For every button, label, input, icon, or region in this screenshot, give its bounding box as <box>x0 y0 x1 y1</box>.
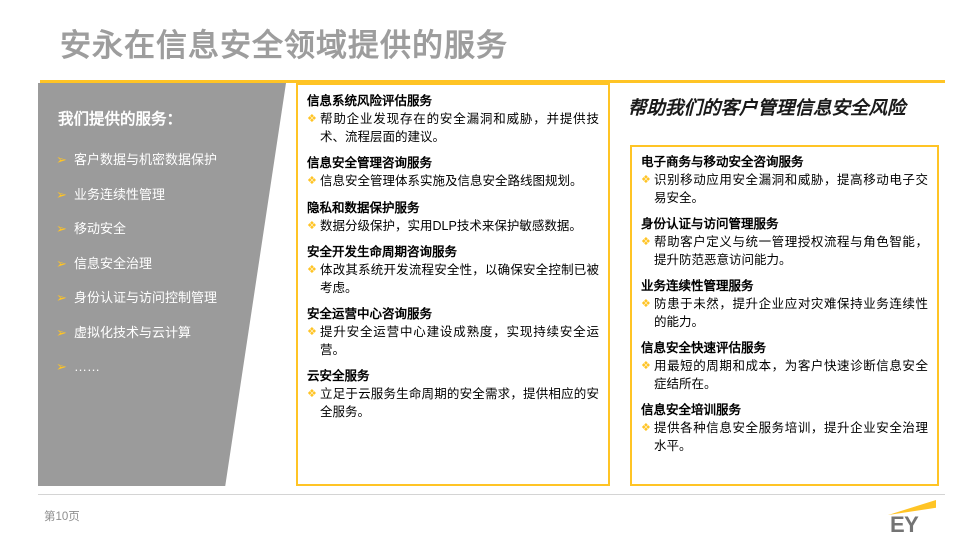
arrow-bullet-icon: ➢ <box>56 289 69 307</box>
diamond-bullet-icon: ❖ <box>641 172 654 190</box>
diamond-bullet-icon: ❖ <box>641 234 654 252</box>
page-title: 安永在信息安全领域提供的服务 <box>60 20 508 65</box>
service-title: 隐私和数据保护服务 <box>307 200 599 217</box>
service-description: 立足于云服务生命周期的安全需求，提供相应的安全服务。 <box>320 386 599 421</box>
service-description-row: ❖数据分级保护，实用DLP技术来保护敏感数据。 <box>307 218 599 236</box>
right-service-0: 电子商务与移动安全咨询服务❖识别移动应用安全漏洞和威胁，提高移动电子交易安全。 <box>641 154 928 207</box>
service-description: 提供各种信息安全服务培训，提升企业安全治理水平。 <box>654 420 928 455</box>
diamond-bullet-icon: ❖ <box>307 324 320 342</box>
service-description: 信息安全管理体系实施及信息安全路线图规划。 <box>320 173 599 191</box>
service-description: 提升安全运营中心建设成熟度，实现持续安全运营。 <box>320 324 599 359</box>
sidebar-item-5[interactable]: ➢虚拟化技术与云计算 <box>56 324 271 342</box>
arrow-bullet-icon: ➢ <box>56 186 69 204</box>
diamond-bullet-icon: ❖ <box>641 420 654 438</box>
service-description: 识别移动应用安全漏洞和威胁，提高移动电子交易安全。 <box>654 172 928 207</box>
sidebar-item-0[interactable]: ➢客户数据与机密数据保护 <box>56 151 271 169</box>
diamond-bullet-icon: ❖ <box>641 296 654 314</box>
page-number: 第10页 <box>44 508 80 524</box>
sidebar-item-3[interactable]: ➢信息安全治理 <box>56 255 271 273</box>
right-services-box: 电子商务与移动安全咨询服务❖识别移动应用安全漏洞和威胁，提高移动电子交易安全。身… <box>630 145 939 486</box>
sidebar-item-2[interactable]: ➢移动安全 <box>56 220 271 238</box>
middle-service-2: 隐私和数据保护服务❖数据分级保护，实用DLP技术来保护敏感数据。 <box>307 200 599 236</box>
service-title: 业务连续性管理服务 <box>641 278 928 295</box>
sidebar-item-4[interactable]: ➢身份认证与访问控制管理 <box>56 289 271 307</box>
diamond-bullet-icon: ❖ <box>641 358 654 376</box>
arrow-bullet-icon: ➢ <box>56 255 69 273</box>
service-title: 信息系统风险评估服务 <box>307 93 599 110</box>
sidebar-item-label: 身份认证与访问控制管理 <box>74 289 217 307</box>
service-description-row: ❖帮助企业发现存在的安全漏洞和威胁，并提供技术、流程层面的建议。 <box>307 111 599 146</box>
service-description-row: ❖帮助客户定义与统一管理授权流程与角色智能，提升防范恶意访问能力。 <box>641 234 928 269</box>
service-title: 电子商务与移动安全咨询服务 <box>641 154 928 171</box>
service-title: 信息安全快速评估服务 <box>641 340 928 357</box>
service-title: 身份认证与访问管理服务 <box>641 216 928 233</box>
middle-service-4: 安全运营中心咨询服务❖提升安全运营中心建设成熟度，实现持续安全运营。 <box>307 306 599 359</box>
footer-divider <box>38 494 945 495</box>
sidebar-item-1[interactable]: ➢业务连续性管理 <box>56 186 271 204</box>
right-column-heading: 帮助我们的客户管理信息安全风险 <box>628 94 906 120</box>
service-description: 数据分级保护，实用DLP技术来保护敏感数据。 <box>320 218 599 236</box>
diamond-bullet-icon: ❖ <box>307 218 320 236</box>
sidebar-item-label: 客户数据与机密数据保护 <box>74 151 217 169</box>
right-service-1: 身份认证与访问管理服务❖帮助客户定义与统一管理授权流程与角色智能，提升防范恶意访… <box>641 216 928 269</box>
sidebar-item-label: 业务连续性管理 <box>74 186 165 204</box>
middle-service-3: 安全开发生命周期咨询服务❖体改其系统开发流程安全性，以确保安全控制已被考虑。 <box>307 244 599 297</box>
service-description-row: ❖识别移动应用安全漏洞和威胁，提高移动电子交易安全。 <box>641 172 928 207</box>
arrow-bullet-icon: ➢ <box>56 151 69 169</box>
service-description-row: ❖立足于云服务生命周期的安全需求，提供相应的安全服务。 <box>307 386 599 421</box>
middle-service-5: 云安全服务❖立足于云服务生命周期的安全需求，提供相应的安全服务。 <box>307 368 599 421</box>
sidebar-item-label: …… <box>74 358 100 376</box>
right-service-4: 信息安全培训服务❖提供各种信息安全服务培训，提升企业安全治理水平。 <box>641 402 928 455</box>
service-title: 信息安全管理咨询服务 <box>307 155 599 172</box>
sidebar-item-label: 信息安全治理 <box>74 255 152 273</box>
middle-service-1: 信息安全管理咨询服务❖信息安全管理体系实施及信息安全路线图规划。 <box>307 155 599 191</box>
right-service-3: 信息安全快速评估服务❖用最短的周期和成本，为客户快速诊断信息安全症结所在。 <box>641 340 928 393</box>
service-description-row: ❖用最短的周期和成本，为客户快速诊断信息安全症结所在。 <box>641 358 928 393</box>
service-title: 云安全服务 <box>307 368 599 385</box>
side-panel-list: ➢客户数据与机密数据保护➢业务连续性管理➢移动安全➢信息安全治理➢身份认证与访问… <box>56 151 271 393</box>
middle-service-0: 信息系统风险评估服务❖帮助企业发现存在的安全漏洞和威胁，并提供技术、流程层面的建… <box>307 93 599 146</box>
diamond-bullet-icon: ❖ <box>307 173 320 191</box>
sidebar-item-label: 虚拟化技术与云计算 <box>74 324 191 342</box>
service-description-row: ❖提升安全运营中心建设成熟度，实现持续安全运营。 <box>307 324 599 359</box>
service-description: 体改其系统开发流程安全性，以确保安全控制已被考虑。 <box>320 262 599 297</box>
service-description-row: ❖信息安全管理体系实施及信息安全路线图规划。 <box>307 173 599 191</box>
slide-canvas: 安永在信息安全领域提供的服务 我们提供的服务： ➢客户数据与机密数据保护➢业务连… <box>0 0 960 540</box>
diamond-bullet-icon: ❖ <box>307 262 320 280</box>
service-title: 安全开发生命周期咨询服务 <box>307 244 599 261</box>
service-description-row: ❖提供各种信息安全服务培训，提升企业安全治理水平。 <box>641 420 928 455</box>
service-description-row: ❖防患于未然，提升企业应对灾难保持业务连续性的能力。 <box>641 296 928 331</box>
service-description: 用最短的周期和成本，为客户快速诊断信息安全症结所在。 <box>654 358 928 393</box>
service-title: 安全运营中心咨询服务 <box>307 306 599 323</box>
arrow-bullet-icon: ➢ <box>56 220 69 238</box>
sidebar-item-6[interactable]: ➢…… <box>56 358 271 376</box>
middle-services-box: 信息系统风险评估服务❖帮助企业发现存在的安全漏洞和威胁，并提供技术、流程层面的建… <box>296 83 610 486</box>
arrow-bullet-icon: ➢ <box>56 358 69 376</box>
service-description: 帮助客户定义与统一管理授权流程与角色智能，提升防范恶意访问能力。 <box>654 234 928 269</box>
diamond-bullet-icon: ❖ <box>307 111 320 129</box>
service-description-row: ❖体改其系统开发流程安全性，以确保安全控制已被考虑。 <box>307 262 599 297</box>
arrow-bullet-icon: ➢ <box>56 324 69 342</box>
service-description: 帮助企业发现存在的安全漏洞和威胁，并提供技术、流程层面的建议。 <box>320 111 599 146</box>
ey-wordmark: EY <box>890 512 918 538</box>
diamond-bullet-icon: ❖ <box>307 386 320 404</box>
service-description: 防患于未然，提升企业应对灾难保持业务连续性的能力。 <box>654 296 928 331</box>
service-title: 信息安全培训服务 <box>641 402 928 419</box>
ey-logo: EY <box>880 500 942 536</box>
right-service-2: 业务连续性管理服务❖防患于未然，提升企业应对灾难保持业务连续性的能力。 <box>641 278 928 331</box>
side-panel-heading: 我们提供的服务： <box>58 107 182 129</box>
sidebar-item-label: 移动安全 <box>74 220 126 238</box>
services-side-panel: 我们提供的服务： ➢客户数据与机密数据保护➢业务连续性管理➢移动安全➢信息安全治… <box>38 83 286 486</box>
